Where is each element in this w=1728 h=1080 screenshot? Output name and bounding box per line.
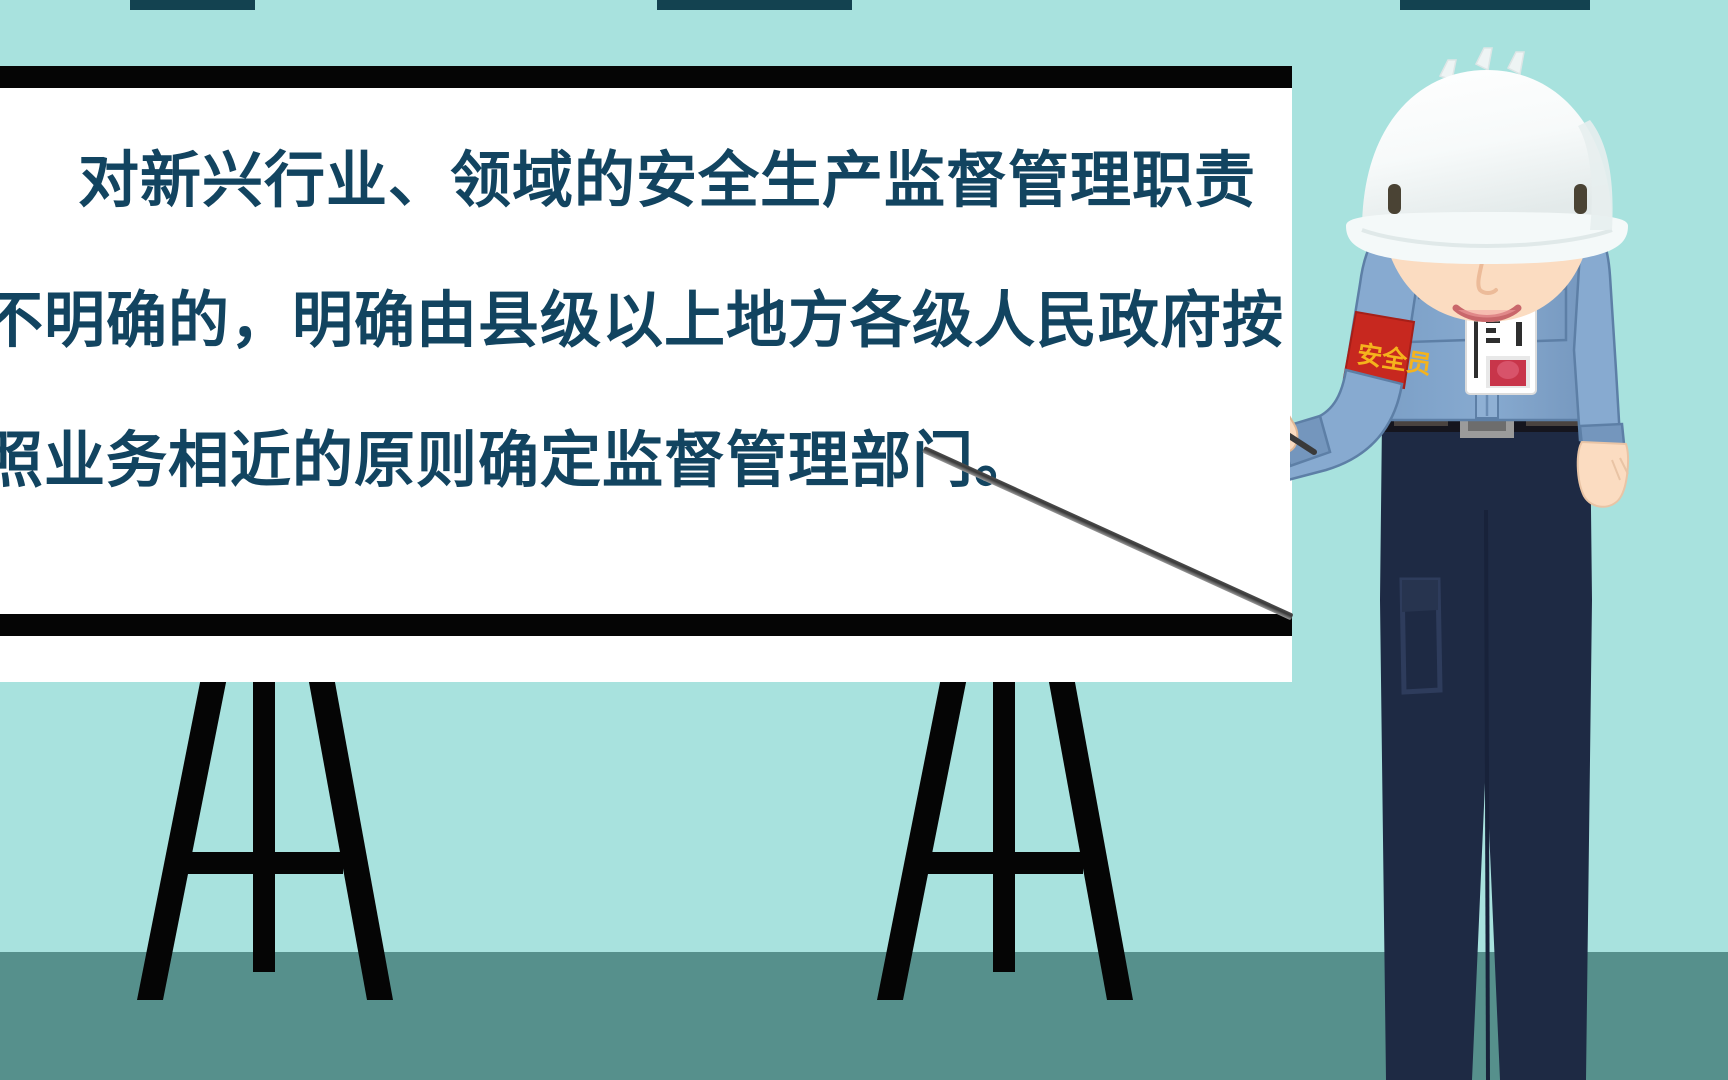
whiteboard-bottom-frame <box>0 614 1292 636</box>
safety-helmet <box>1346 48 1628 264</box>
whiteboard-text-line-2: 不明确的，明确由县级以上地方各级人民政府按 <box>0 250 1282 390</box>
subtitle-mark-2 <box>657 0 852 10</box>
scene-root: 对新兴行业、领域的安全生产监督管理职责 不明确的，明确由县级以上地方各级人民政府… <box>0 0 1728 1080</box>
safety-officer-character: 安全员 <box>1290 40 1728 1080</box>
subtitle-mark-1 <box>130 0 255 10</box>
subtitle-mark-3 <box>1400 0 1590 10</box>
whiteboard-text-block: 对新兴行业、领域的安全生产监督管理职责 不明确的，明确由县级以上地方各级人民政府… <box>0 110 1282 530</box>
whiteboard-text-line-3: 照业务相近的原则确定监督管理部门。 <box>0 390 1282 530</box>
whiteboard-text-line-1: 对新兴行业、领域的安全生产监督管理职责 <box>0 110 1282 250</box>
character-right-arm <box>1574 218 1628 507</box>
character-pants <box>1380 420 1592 1080</box>
whiteboard-top-frame <box>0 66 1292 88</box>
